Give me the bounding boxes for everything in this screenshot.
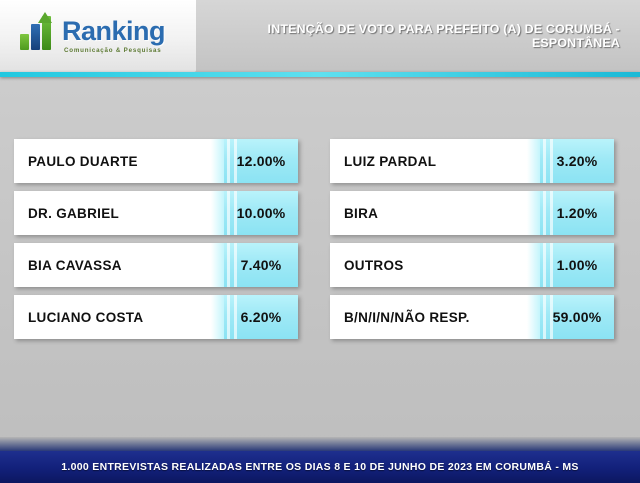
- stripe-decoration: [543, 139, 546, 183]
- stripe-decoration: [227, 139, 230, 183]
- value-label: 7.40%: [241, 257, 282, 273]
- results-column-left: PAULO DUARTE 12.00% DR. GABRIEL 10.00% B…: [14, 139, 298, 347]
- survey-note: 1.000 ENTREVISTAS REALIZADAS ENTRE OS DI…: [61, 461, 578, 473]
- candidate-name: OUTROS: [330, 258, 540, 273]
- stripe-decoration: [550, 139, 553, 183]
- stripe-decoration: [543, 295, 546, 339]
- page-title: INTENÇÃO DE VOTO PARA PREFEITO (A) DE CO…: [210, 0, 630, 72]
- table-row: BIA CAVASSA 7.40%: [14, 243, 298, 287]
- logo-title: Ranking: [62, 18, 165, 45]
- value-label: 10.00%: [237, 205, 286, 221]
- arrow-up-icon: [38, 12, 52, 23]
- stripe-decoration: [227, 191, 230, 235]
- stripe-decoration: [227, 295, 230, 339]
- table-row: PAULO DUARTE 12.00%: [14, 139, 298, 183]
- logo-panel: Ranking Comunicação & Pesquisas: [0, 0, 196, 72]
- value-label: 12.00%: [237, 153, 286, 169]
- logo-subtitle: Comunicação & Pesquisas: [64, 48, 165, 54]
- candidate-name: LUIZ PARDAL: [330, 154, 540, 169]
- stripe-decoration: [227, 243, 230, 287]
- results-column-right: LUIZ PARDAL 3.20% BIRA 1.20% OUTROS: [330, 139, 614, 347]
- value-cell: 7.40%: [224, 243, 298, 287]
- table-row: LUCIANO COSTA 6.20%: [14, 295, 298, 339]
- stripe-decoration: [550, 191, 553, 235]
- candidate-name: BIA CAVASSA: [14, 258, 224, 273]
- footer-bar: 1.000 ENTREVISTAS REALIZADAS ENTRE OS DI…: [0, 451, 640, 483]
- table-row: B/N/I/N/NÃO RESP. 59.00%: [330, 295, 614, 339]
- table-row: DR. GABRIEL 10.00%: [14, 191, 298, 235]
- table-row: LUIZ PARDAL 3.20%: [330, 139, 614, 183]
- value-cell: 1.20%: [540, 191, 614, 235]
- value-cell: 12.00%: [224, 139, 298, 183]
- stripe-decoration: [543, 243, 546, 287]
- value-label: 6.20%: [241, 309, 282, 325]
- header-bar: Ranking Comunicação & Pesquisas INTENÇÃO…: [0, 0, 640, 72]
- stripe-decoration: [234, 295, 237, 339]
- table-row: OUTROS 1.00%: [330, 243, 614, 287]
- value-label: 1.20%: [557, 205, 598, 221]
- value-cell: 1.00%: [540, 243, 614, 287]
- value-label: 1.00%: [557, 257, 598, 273]
- value-cell: 6.20%: [224, 295, 298, 339]
- value-cell: 59.00%: [540, 295, 614, 339]
- stripe-decoration: [543, 191, 546, 235]
- candidate-name: LUCIANO COSTA: [14, 310, 224, 325]
- stripe-decoration: [550, 243, 553, 287]
- footer-gradient: [0, 437, 640, 451]
- value-label: 3.20%: [557, 153, 598, 169]
- stripe-decoration: [234, 243, 237, 287]
- table-row: BIRA 1.20%: [330, 191, 614, 235]
- chart-area: PAULO DUARTE 12.00% DR. GABRIEL 10.00% B…: [0, 77, 640, 437]
- candidate-name: BIRA: [330, 206, 540, 221]
- brand-logo: Ranking Comunicação & Pesquisas: [18, 14, 165, 54]
- value-cell: 10.00%: [224, 191, 298, 235]
- candidate-name: DR. GABRIEL: [14, 206, 224, 221]
- candidate-name: PAULO DUARTE: [14, 154, 224, 169]
- value-label: 59.00%: [553, 309, 602, 325]
- poll-results-screen: Ranking Comunicação & Pesquisas INTENÇÃO…: [0, 0, 640, 483]
- value-cell: 3.20%: [540, 139, 614, 183]
- candidate-name: B/N/I/N/NÃO RESP.: [330, 310, 540, 325]
- bar-chart-icon: [18, 14, 58, 54]
